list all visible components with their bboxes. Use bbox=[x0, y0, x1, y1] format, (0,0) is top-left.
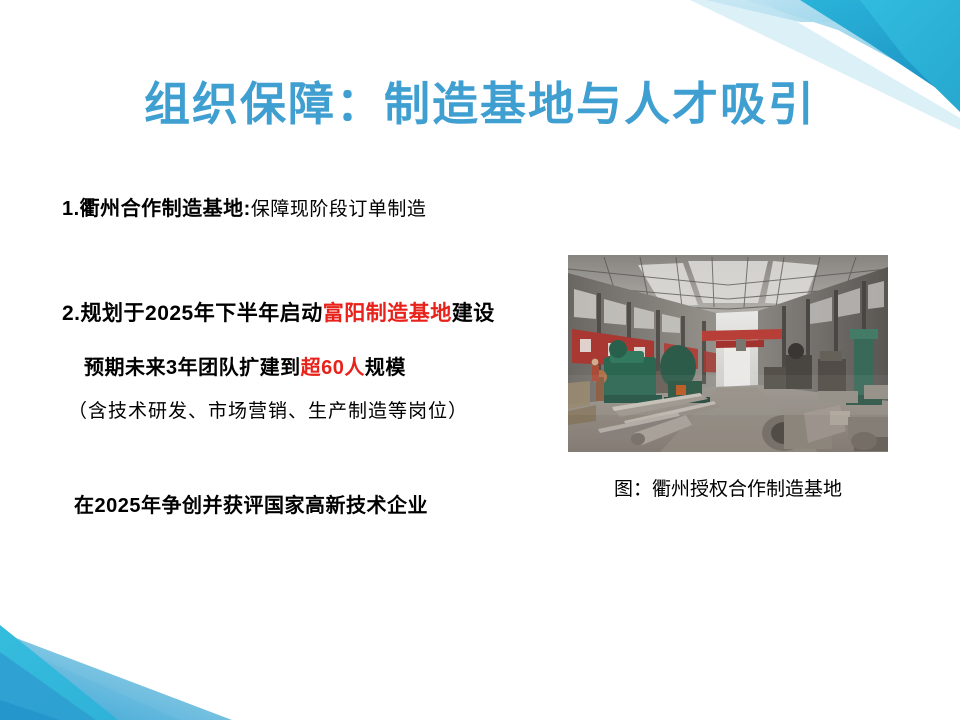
bullet-item-2-sub-highlight: 超60人 bbox=[301, 357, 365, 379]
bullet-item-2: 2.规划于2025年下半年启动富阳制造基地建设 bbox=[62, 297, 495, 327]
slide-canvas: 组织保障：制造基地与人才吸引 1.衢州合作制造基地:保障现阶段订单制造 2.规划… bbox=[0, 0, 960, 720]
bullet-item-3: 在2025年争创并获评国家高新技术企业 bbox=[74, 489, 428, 518]
bullet-item-2-sub-suffix: 规模 bbox=[365, 357, 406, 379]
bullet-item-1-bold: 1.衢州合作制造基地: bbox=[62, 198, 251, 220]
page-title: 组织保障：制造基地与人才吸引 bbox=[0, 68, 960, 134]
bullet-item-1-text: 保障现阶段订单制造 bbox=[251, 199, 427, 220]
bullet-item-1: 1.衢州合作制造基地:保障现阶段订单制造 bbox=[62, 192, 426, 221]
bullet-item-2-suffix: 建设 bbox=[452, 302, 495, 325]
bullet-item-2-prefix: 2.规划于2025年下半年启动 bbox=[62, 302, 323, 325]
bullet-item-2-sub-prefix: 预期未来3年团队扩建到 bbox=[84, 357, 301, 379]
figure-caption: 图：衢州授权合作制造基地 bbox=[568, 474, 888, 501]
bullet-item-2-note: （含技术研发、市场营销、生产制造等岗位） bbox=[68, 396, 468, 423]
factory-workshop-photo bbox=[568, 255, 888, 452]
factory-photo-graphic bbox=[568, 255, 888, 452]
bullet-item-2-highlight: 富阳制造基地 bbox=[323, 302, 452, 325]
bullet-item-2-sub: 预期未来3年团队扩建到超60人规模 bbox=[84, 351, 406, 380]
